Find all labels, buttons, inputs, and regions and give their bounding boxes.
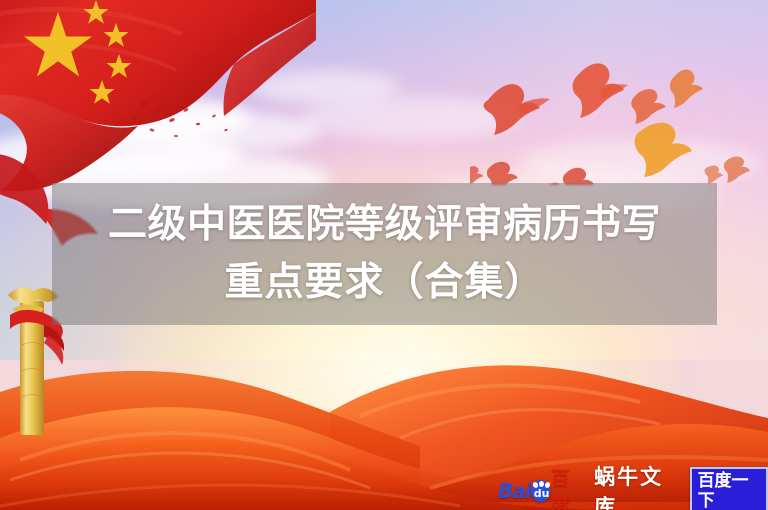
baidu-latin-text: Bai — [498, 479, 531, 503]
baidu-paw-icon: du — [531, 480, 550, 502]
page-title: 二级中医医院等级评审病历书写 重点要求（合集） — [52, 183, 717, 325]
baidu-paw-label: du — [531, 488, 553, 500]
flying-doves-icon — [470, 45, 768, 185]
baidu-search-button[interactable]: 百度一下 — [690, 467, 768, 510]
site-name: 蜗牛文库 — [594, 461, 678, 510]
title-line-2: 重点要求（合集） — [224, 255, 544, 311]
brand-strip: Bai du 百度 蜗牛文库 百度一下 — [498, 477, 768, 505]
baidu-logo[interactable]: Bai du 百度 — [498, 478, 582, 504]
baidu-chinese-text: 百度 — [551, 464, 582, 510]
poster-canvas: 二级中医医院等级评审病历书写 重点要求（合集） Bai du 百度 蜗牛文库 百… — [0, 0, 768, 510]
title-line-1: 二级中医医院等级评审病历书写 — [108, 197, 661, 253]
